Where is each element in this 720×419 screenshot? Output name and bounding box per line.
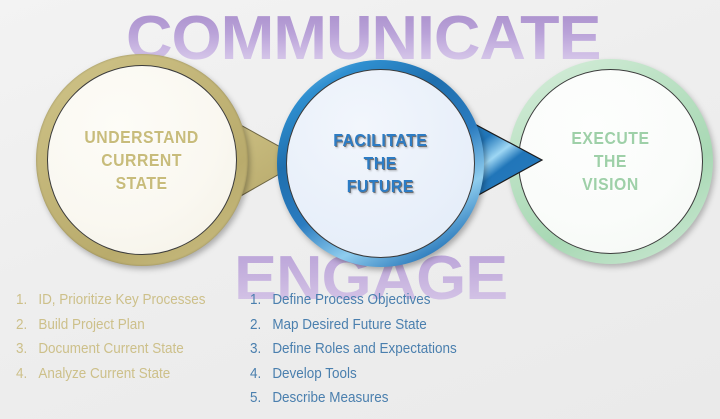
node-execute-face: EXECUTE THE VISION bbox=[518, 69, 703, 254]
list-item-number: 3. bbox=[250, 337, 272, 362]
list-item-label: ID, Prioritize Key Processes bbox=[38, 288, 205, 313]
diagram-canvas: COMMUNICATE ENGAGE UNDERSTAND CURRENT ST… bbox=[0, 0, 720, 419]
node-understand-label-line-3: STATE bbox=[85, 172, 199, 195]
node-execute-label-line-3: VISION bbox=[571, 173, 649, 196]
node-facilitate-face: FACILITATE THE FUTURE bbox=[286, 69, 475, 258]
list-item-label: Define Roles and Expectations bbox=[272, 337, 456, 362]
node-facilitate-the-future[interactable]: FACILITATE THE FUTURE bbox=[277, 60, 484, 267]
list-item-number: 1. bbox=[250, 288, 272, 313]
node-facilitate-label-line-3: FUTURE bbox=[333, 175, 427, 198]
list-item-label: Develop Tools bbox=[272, 362, 356, 387]
node-understand-face: UNDERSTAND CURRENT STATE bbox=[47, 65, 237, 255]
list-item-label: Map Desired Future State bbox=[272, 313, 426, 338]
node-execute-label-line-1: EXECUTE bbox=[571, 127, 649, 150]
list-item-number: 1. bbox=[16, 288, 38, 313]
list-item-label: Define Process Objectives bbox=[272, 288, 430, 313]
list-item-label: Document Current State bbox=[38, 337, 183, 362]
list-item: 4. Develop Tools bbox=[250, 362, 457, 387]
list-item: 1. ID, Prioritize Key Processes bbox=[16, 288, 205, 313]
list-item: 3. Document Current State bbox=[16, 337, 205, 362]
list-facilitate-the-future: 1. Define Process Objectives 2. Map Desi… bbox=[250, 288, 472, 411]
list-item-label: Describe Measures bbox=[272, 386, 388, 411]
list-item-label: Build Project Plan bbox=[38, 313, 144, 338]
node-understand-current-state[interactable]: UNDERSTAND CURRENT STATE bbox=[36, 54, 248, 266]
list-item-number: 3. bbox=[16, 337, 38, 362]
node-facilitate-label: FACILITATE THE FUTURE bbox=[333, 129, 427, 198]
node-execute-label-line-2: THE bbox=[571, 150, 649, 173]
node-facilitate-label-line-1: FACILITATE bbox=[333, 129, 427, 152]
list-item-number: 2. bbox=[16, 313, 38, 338]
node-understand-label-line-1: UNDERSTAND bbox=[85, 126, 199, 149]
list-understand-current-state: 1. ID, Prioritize Key Processes 2. Build… bbox=[16, 288, 220, 386]
list-item-number: 4. bbox=[16, 362, 38, 387]
list-item-number: 4. bbox=[250, 362, 272, 387]
list-item: 2. Build Project Plan bbox=[16, 313, 205, 338]
node-execute-label: EXECUTE THE VISION bbox=[571, 127, 649, 196]
list-item: 3. Define Roles and Expectations bbox=[250, 337, 457, 362]
list-item: 4. Analyze Current State bbox=[16, 362, 205, 387]
list-item-number: 5. bbox=[250, 386, 272, 411]
node-facilitate-label-line-2: THE bbox=[333, 152, 427, 175]
list-item: 2. Map Desired Future State bbox=[250, 313, 457, 338]
list-item-label: Analyze Current State bbox=[38, 362, 170, 387]
node-understand-label: UNDERSTAND CURRENT STATE bbox=[85, 126, 199, 195]
list-item: 5. Describe Measures bbox=[250, 386, 457, 411]
node-understand-label-line-2: CURRENT bbox=[85, 149, 199, 172]
list-item: 1. Define Process Objectives bbox=[250, 288, 457, 313]
list-item-number: 2. bbox=[250, 313, 272, 338]
